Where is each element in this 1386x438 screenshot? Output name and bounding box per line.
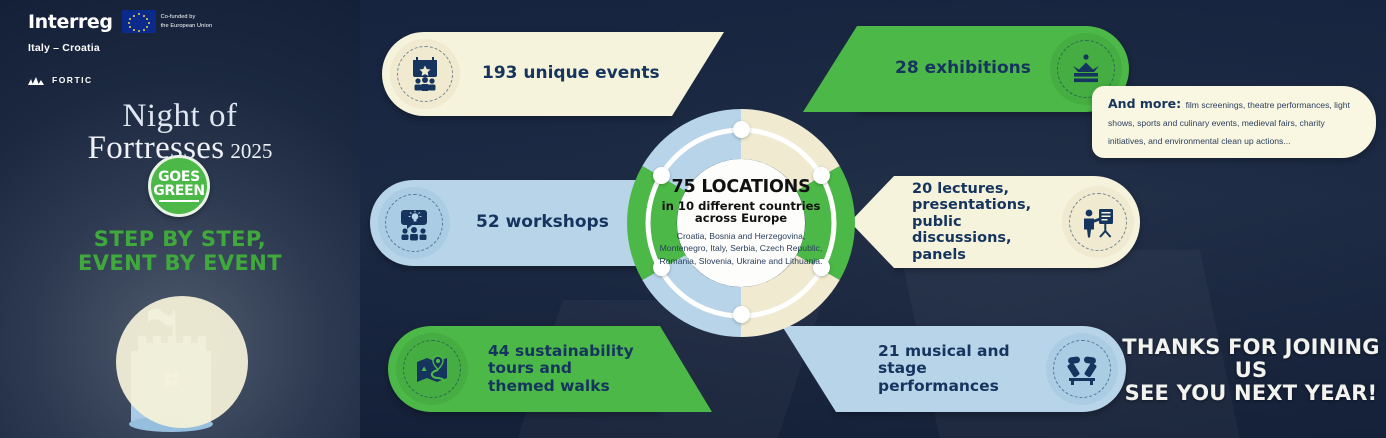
left-branding-panel: Interreg Co-funded by <box>0 0 360 438</box>
infographic-banner: Interreg Co-funded by <box>0 0 1386 438</box>
donut-center-text: 75 LOCATIONS in 10 different countries a… <box>648 130 834 316</box>
interreg-wordmark: Interreg <box>28 11 113 33</box>
closing-line-1: THANKS FOR JOINING US <box>1120 336 1382 382</box>
tagline-line-1: STEP BY STEP, <box>0 228 360 252</box>
goes-green-badge: GOES GREEN <box>148 155 210 217</box>
interreg-logo: Interreg Co-funded by <box>28 10 212 33</box>
title-year: 2025 <box>230 139 272 164</box>
locations-subline-2: across Europe <box>662 212 821 225</box>
tagline-line-2: EVENT BY EVENT <box>0 252 360 276</box>
lightbulb-audience-icon <box>378 187 450 259</box>
badge-underline <box>159 200 199 202</box>
stat-label-workshops: 52 workshops <box>476 213 609 232</box>
castle-illustration <box>108 296 256 438</box>
locations-donut-chart: 75 LOCATIONS in 10 different countries a… <box>616 98 866 348</box>
fortic-label: FORTIC <box>52 75 93 85</box>
and-more-bubble: And more: film screenings, theatre perfo… <box>1092 86 1376 158</box>
eu-funding-line-1: Co-funded by <box>161 13 213 21</box>
badge-line-2: GREEN <box>153 184 205 198</box>
fortic-mark-icon <box>28 74 45 85</box>
closing-message: THANKS FOR JOINING US SEE YOU NEXT YEAR! <box>1120 336 1382 405</box>
eu-flag-icon <box>122 10 156 33</box>
presenter-board-icon <box>1062 186 1134 258</box>
locations-countries: Croatia, Bosnia and Herzegovina, Montene… <box>656 230 826 267</box>
stat-label-music: 21 musical and stage performances <box>878 343 1046 396</box>
map-pin-trail-icon <box>396 333 468 405</box>
stat-pill-music[interactable]: 21 musical and stage performances <box>836 326 1126 412</box>
and-more-title: And more: <box>1108 96 1181 111</box>
calendar-star-audience-icon <box>390 39 460 109</box>
tagline: STEP BY STEP, EVENT BY EVENT <box>0 228 360 275</box>
stat-pill-lectures[interactable]: 20 lectures, presentations, public discu… <box>894 176 1140 268</box>
infographic-main: 193 unique events 28 exhibitions And mor… <box>360 0 1386 438</box>
eu-funding-logo: Co-funded by the European Union <box>122 10 213 33</box>
stat-pill-exhibitions[interactable]: 28 exhibitions <box>857 26 1129 112</box>
locations-headline: 75 LOCATIONS <box>671 179 810 197</box>
castle-glow-circle <box>116 296 248 428</box>
programme-name: Italy – Croatia <box>28 42 100 54</box>
locations-subline: in 10 different countries across Europe <box>662 200 821 226</box>
title-line-2: Fortresses <box>88 130 225 167</box>
stat-label-events: 193 unique events <box>482 64 660 83</box>
eu-funding-line-2: the European Union <box>161 22 213 30</box>
badge-line-1: GOES <box>158 170 200 184</box>
stat-pill-workshops[interactable]: 52 workshops <box>370 180 648 266</box>
eu-funding-text: Co-funded by the European Union <box>161 13 213 29</box>
fortic-logo: FORTIC <box>28 74 93 85</box>
stat-label-lectures: 20 lectures, presentations, public discu… <box>912 181 1062 264</box>
closing-line-2: SEE YOU NEXT YEAR! <box>1120 382 1382 405</box>
stat-label-sustainability: 44 sustainability tours and themed walks <box>488 343 634 396</box>
stat-label-exhibitions: 28 exhibitions <box>895 59 1050 78</box>
stage-lights-icon <box>1046 333 1118 405</box>
